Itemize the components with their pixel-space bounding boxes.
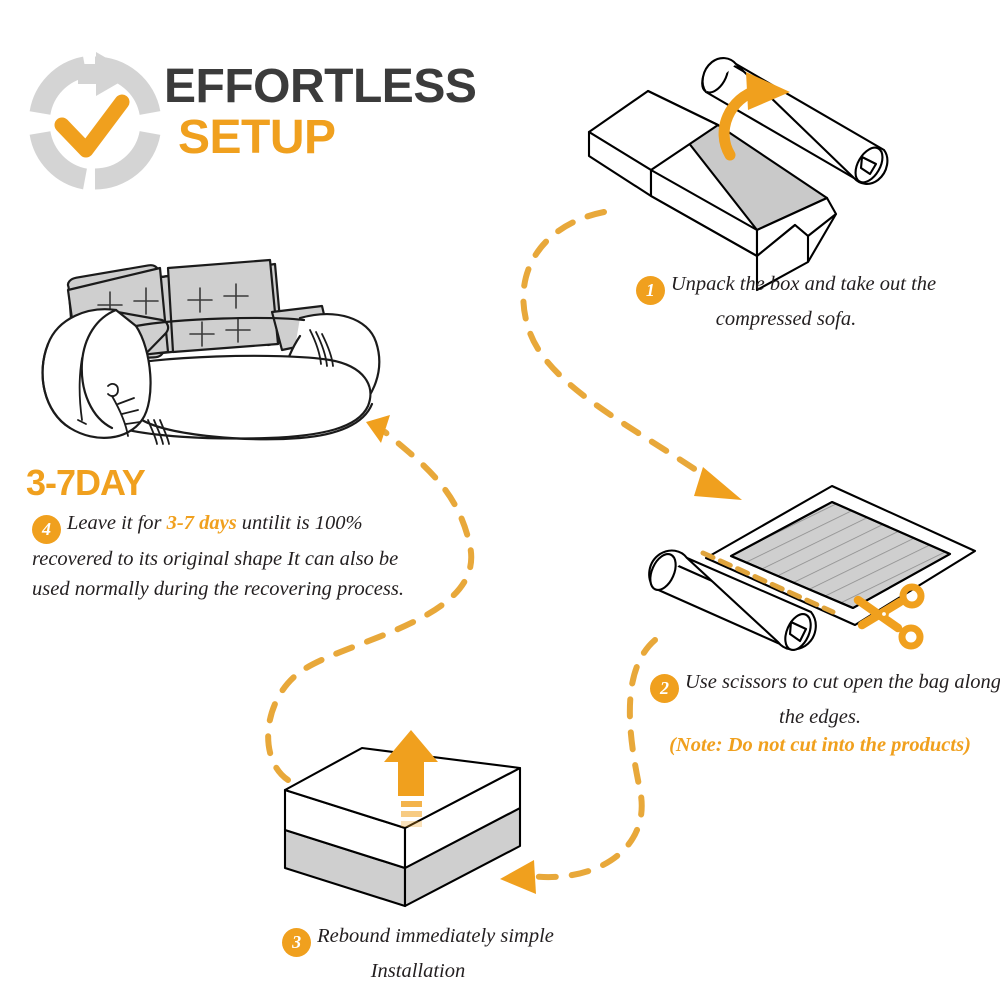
connector-step2-to-step3 xyxy=(500,640,655,894)
step-3-caption: 3Rebound immediately simple Installation xyxy=(268,922,568,985)
step-4-text-part1: Leave it for xyxy=(67,512,167,534)
page-title-line2: SETUP xyxy=(164,112,564,164)
step-4-caption: 4Leave it for 3-7 days untilit is 100% r… xyxy=(32,508,404,604)
step-1-line1: Unpack the box and take out the xyxy=(671,273,936,295)
step-2-line1: Use scissors to cut open the bag along xyxy=(685,671,1000,693)
finished-sofa-icon xyxy=(43,260,380,444)
step-2-line2: the edges. xyxy=(779,706,861,728)
step-4-line2: recovered to its original shape It can a… xyxy=(32,548,398,570)
step-2-note: (Note: Do not cut into the products) xyxy=(650,731,990,759)
step-4-highlight: 3-7 days xyxy=(167,512,237,534)
step-4-line3: used normally during the recovering proc… xyxy=(32,578,404,600)
step-number-badge-2: 2 xyxy=(650,674,679,703)
step-3-line2: Installation xyxy=(371,960,466,982)
header-title-block: EFFORTLESS SETUP xyxy=(164,62,564,164)
infographic-page: EFFORTLESS SETUP 3-7DAY 1Unpack the box … xyxy=(0,0,1000,1000)
flat-bag-with-scissors-icon xyxy=(645,486,975,654)
step-1-caption: 1Unpack the box and take out the compres… xyxy=(596,270,976,333)
step-3-line1: Rebound immediately simple xyxy=(317,925,554,947)
step-number-badge-4: 4 xyxy=(32,515,61,544)
step-1-line2: compressed sofa. xyxy=(716,308,856,330)
page-title-line1: EFFORTLESS xyxy=(164,62,564,112)
open-box-with-rolled-sofa-icon xyxy=(589,55,888,290)
step-number-badge-3: 3 xyxy=(282,928,311,957)
step-number-badge-1: 1 xyxy=(636,276,665,305)
day-range-heading: 3-7DAY xyxy=(26,462,145,504)
circular-arrow-check-icon xyxy=(40,52,150,179)
connector-box-to-step2 xyxy=(523,212,742,500)
step-4-text-part2: untilit is 100% xyxy=(237,512,363,534)
step-2-caption: 2Use scissors to cut open the bag along … xyxy=(650,668,990,759)
